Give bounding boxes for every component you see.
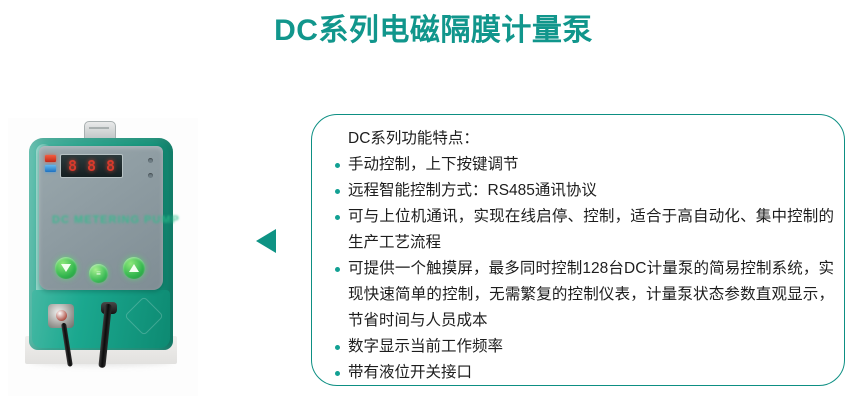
product-photo: 8 8 8 DC METERING PUMP ≡ bbox=[8, 118, 198, 396]
list-item: 手动控制，上下按键调节 bbox=[334, 152, 834, 178]
list-item: 可提供一个触摸屏，最多同时控制128台DC计量泵的简易控制系统，实现快速简单的控… bbox=[334, 256, 834, 334]
pump-brand-text: DC METERING PUMP bbox=[52, 214, 150, 226]
list-item: 带有液位开关接口 bbox=[334, 360, 834, 386]
indicator-dot-1-icon bbox=[148, 158, 153, 163]
feature-list: 手动控制，上下按键调节 远程智能控制方式：RS485通讯协议 可与上位机通讯，实… bbox=[334, 152, 834, 386]
led-digit-2: 8 bbox=[87, 159, 96, 174]
pump-down-button[interactable] bbox=[55, 257, 77, 279]
list-item: 远程智能控制方式：RS485通讯协议 bbox=[334, 178, 834, 204]
pump-up-button[interactable] bbox=[123, 257, 145, 279]
status-lamp-icon bbox=[45, 165, 56, 172]
feature-callout-box: DC系列功能特点： 手动控制，上下按键调节 远程智能控制方式：RS485通讯协议… bbox=[311, 114, 845, 386]
led-digit-3: 8 bbox=[106, 159, 115, 174]
left-pointing-triangle-icon bbox=[256, 229, 276, 253]
feature-heading: DC系列功能特点： bbox=[334, 126, 834, 152]
list-item: 可与上位机通讯，实现在线启停、控制，适合于高自动化、集中控制的生产工艺流程 bbox=[334, 204, 834, 256]
led-digit-1: 8 bbox=[68, 159, 77, 174]
list-item: 数字显示当前工作频率 bbox=[334, 334, 834, 360]
chevron-up-icon bbox=[129, 264, 139, 272]
pump-set-button[interactable]: ≡ bbox=[89, 264, 108, 283]
pump-valve-core bbox=[56, 310, 67, 321]
pump-top-connector-line bbox=[89, 127, 109, 129]
set-icon: ≡ bbox=[96, 270, 101, 278]
page-title: DC系列电磁隔膜计量泵 bbox=[0, 12, 867, 50]
power-lamp-icon bbox=[45, 155, 56, 162]
led-display: 8 8 8 bbox=[60, 154, 123, 178]
indicator-dot-2-icon bbox=[148, 173, 153, 178]
chevron-down-icon bbox=[61, 264, 71, 272]
feature-callout-content: DC系列功能特点： 手动控制，上下按键调节 远程智能控制方式：RS485通讯协议… bbox=[334, 126, 834, 386]
